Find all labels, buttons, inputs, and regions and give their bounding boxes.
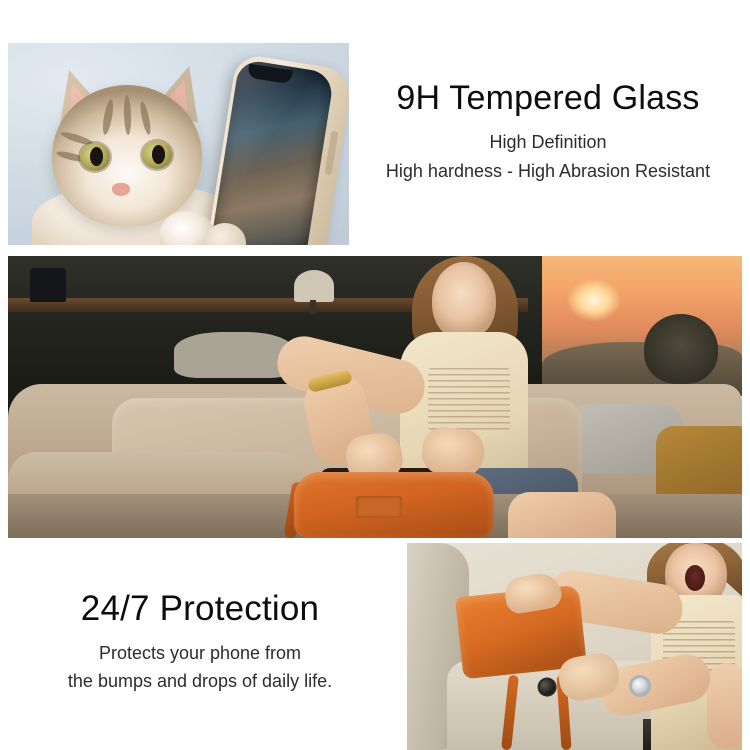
sunglasses-lens [536,676,559,699]
woman-open-mouth [685,565,705,591]
glass-subline-2: High hardness - High Abrasion Resistant [348,161,748,182]
cat-pupil-right [152,145,165,164]
table-lamp-shade [294,270,334,302]
marketing-banner-page: 9H Tempered Glass High Definition High h… [0,0,750,750]
shelf-jar [30,268,66,302]
woman-head [432,262,496,340]
woman-right-arm [707,663,742,749]
glass-subline-1: High Definition [348,132,748,153]
cat-pupil-left [90,147,103,166]
glass-headline: 9H Tempered Glass [348,78,748,118]
protection-headline: 24/7 Protection [0,588,400,629]
protection-text-block: 24/7 Protection Protects your phone from… [0,588,400,692]
tree-silhouette [644,314,718,384]
tempered-glass-text-block: 9H Tempered Glass High Definition High h… [348,78,748,182]
handbag-snatch-photo [407,543,742,750]
protection-subline-2: the bumps and drops of daily life. [0,671,400,692]
woman-leg [508,492,616,538]
protection-subline-1: Protects your phone from [0,643,400,664]
couch-sunset-photo [8,256,742,538]
table-lamp-stem [310,300,316,314]
background-pillow [174,332,294,378]
cat-phone-photo [8,43,349,245]
cat-nose [112,183,130,196]
tank-top-print [428,368,510,430]
handbag-label-patch [356,496,402,518]
